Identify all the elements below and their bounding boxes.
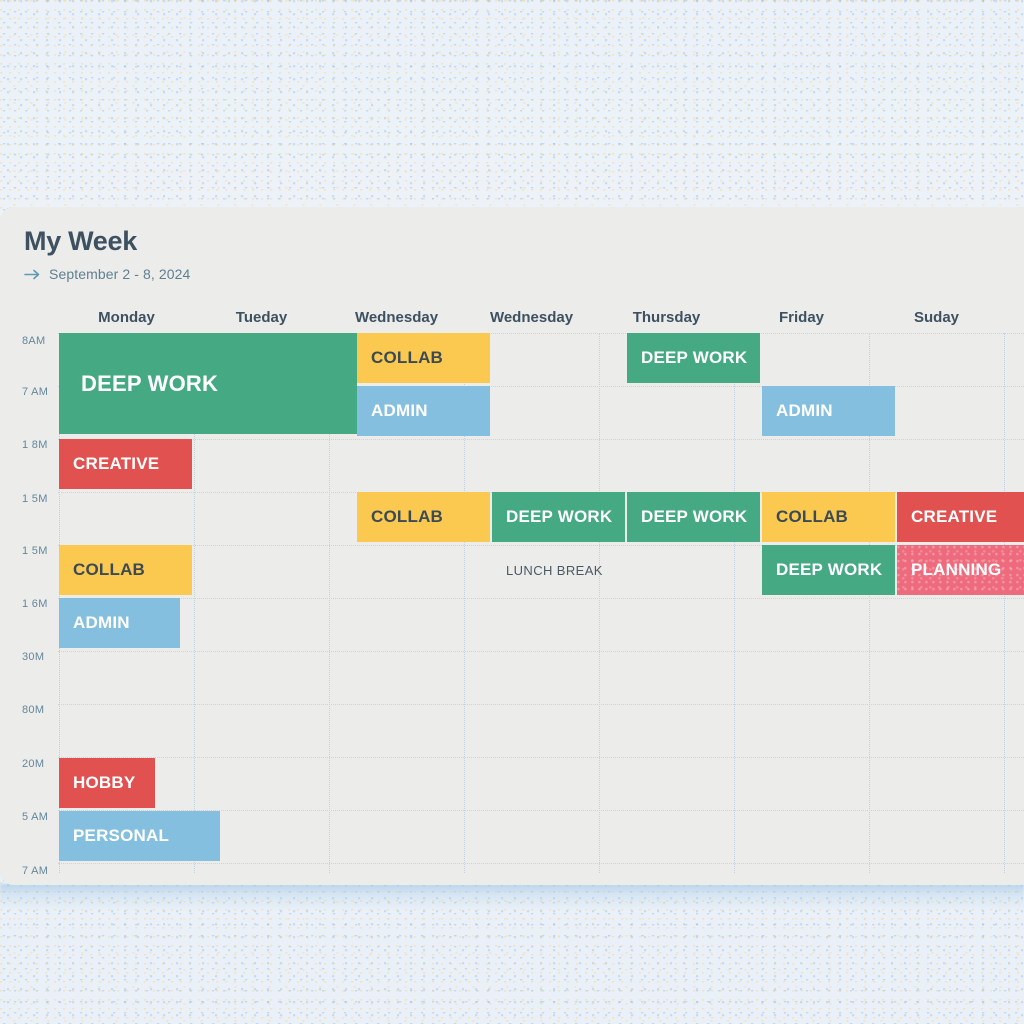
card-drop-shadow	[0, 884, 1024, 910]
event-admin-4[interactable]: ADMIN	[762, 386, 895, 436]
weekly-calendar-card: My Week September 2 - 8, 2024 MondayTued…	[0, 207, 1024, 885]
event-deep-work-0[interactable]: DEEP WORK	[59, 333, 357, 434]
event-collab-11[interactable]: COLLAB	[59, 545, 192, 595]
day-header-3[interactable]: Wednesday	[464, 308, 599, 328]
event-deep-work-7[interactable]: DEEP WORK	[492, 492, 625, 542]
day-header-1[interactable]: Tueday	[194, 308, 329, 328]
grid-hline-7	[58, 704, 1024, 705]
day-header-4[interactable]: Thursday	[599, 308, 734, 328]
grid-vline-4	[599, 333, 600, 873]
grid-vline-5	[734, 333, 735, 873]
event-admin-3[interactable]: ADMIN	[357, 386, 490, 436]
event-personal-17[interactable]: PERSONAL	[59, 811, 220, 861]
grid-hline-5	[58, 598, 1024, 599]
event-deep-work-13[interactable]: DEEP WORK	[762, 545, 895, 595]
event-planning-14[interactable]: PLANNING	[897, 545, 1024, 595]
event-collab-6[interactable]: COLLAB	[357, 492, 490, 542]
event-hobby-16[interactable]: HOBBY	[59, 758, 155, 808]
event-collab-9[interactable]: COLLAB	[762, 492, 895, 542]
grid-hline-8	[58, 757, 1024, 758]
grid-vline-7	[1004, 333, 1005, 873]
event-creative-10[interactable]: CREATIVE	[897, 492, 1024, 542]
event-admin-15[interactable]: ADMIN	[59, 598, 180, 648]
event-deep-work-8[interactable]: DEEP WORK	[627, 492, 760, 542]
event-creative-5[interactable]: CREATIVE	[59, 439, 192, 489]
grid-hline-6	[58, 651, 1024, 652]
grid-hline-10	[58, 863, 1024, 864]
day-header-2[interactable]: Wednesday	[329, 308, 464, 328]
day-header-6[interactable]: Suday	[869, 308, 1004, 328]
day-header-0[interactable]: Monday	[59, 308, 194, 328]
calendar-grid: MondayTuedayWednesdayWednesdayThursdayFr…	[0, 207, 1024, 885]
event-deep-work-2[interactable]: DEEP WORK	[627, 333, 760, 383]
day-header-5[interactable]: Friday	[734, 308, 869, 328]
event-lunch-12[interactable]: LUNCH BREAK	[492, 545, 625, 595]
grid-hline-2	[58, 439, 1024, 440]
event-collab-1[interactable]: COLLAB	[357, 333, 490, 383]
